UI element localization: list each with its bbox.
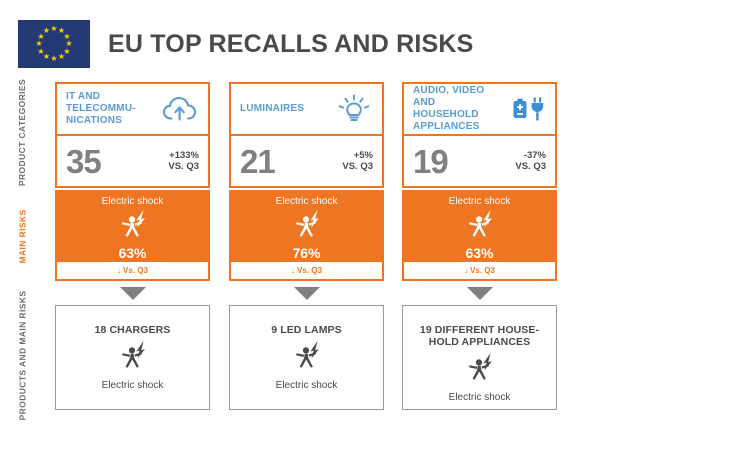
category-delta-value: +5%	[342, 150, 373, 161]
section-label-products-and-main-risks: PRODUCTS AND MAIN RISKS	[0, 300, 46, 410]
main-risk-trend-note: Vs. Q3	[470, 266, 495, 275]
trend-down-arrow-icon: ↓	[464, 266, 468, 275]
section-label-text: MAIN RISKS	[18, 209, 29, 263]
product-detail-box: 19 DIFFERENT HOUSE- HOLD APPLIANCES Elec…	[402, 305, 557, 410]
section-label-text: PRODUCT CATEGORIES	[18, 78, 29, 185]
main-risk-block: Electric shock 63%	[55, 190, 210, 262]
cloud-upload-icon	[160, 91, 200, 127]
category-delta-note: VS. Q3	[168, 161, 199, 172]
connector-arrow-icon	[467, 287, 493, 300]
eu-flag-icon: ★★★★★★★★★★★★	[18, 20, 90, 68]
infographic-page: ★★★★★★★★★★★★ EU TOP RECALLS AND RISKS PR…	[0, 0, 749, 449]
main-risk-trend: ↓ Vs. Q3	[402, 262, 557, 281]
eu-star-icon: ★	[58, 53, 66, 61]
connector-arrow-icon	[294, 287, 320, 300]
category-title: AUDIO, VIDEO AND HOUSEHOLD APPLIANCES	[413, 85, 507, 133]
eu-star-icon: ★	[37, 48, 45, 56]
category-count: 21	[240, 145, 342, 178]
eu-star-icon: ★	[43, 27, 51, 35]
section-label-text: PRODUCTS AND MAIN RISKS	[18, 290, 29, 420]
eu-star-icon: ★	[50, 55, 58, 63]
category-count: 19	[413, 145, 515, 178]
main-risk-trend-note: Vs. Q3	[297, 266, 322, 275]
main-risk-percentage: 76%	[292, 246, 320, 261]
main-risk-trend: ↓ Vs. Q3	[229, 262, 384, 281]
category-delta: +133% VS. Q3	[168, 150, 199, 172]
main-risk-percentage: 63%	[118, 246, 146, 261]
electric-shock-icon	[293, 209, 321, 244]
product-detail-box: 18 CHARGERS Electric shock	[55, 305, 210, 410]
main-risk-name: Electric shock	[276, 195, 338, 208]
lightbulb-icon	[334, 91, 374, 127]
category-delta: +5% VS. Q3	[342, 150, 373, 172]
electric-shock-icon	[119, 340, 147, 375]
category-header: AUDIO, VIDEO AND HOUSEHOLD APPLIANCES	[402, 82, 557, 136]
category-title: IT AND TELECOMMU- NICATIONS	[66, 91, 160, 127]
electric-shock-icon	[466, 352, 494, 387]
page-header: ★★★★★★★★★★★★ EU TOP RECALLS AND RISKS	[18, 20, 474, 68]
main-risk-block: Electric shock 76%	[229, 190, 384, 262]
section-label-main-risks: MAIN RISKS	[0, 190, 46, 282]
category-header: IT AND TELECOMMU- NICATIONS	[55, 82, 210, 136]
category-count-box: 19 -37% VS. Q3	[402, 136, 557, 188]
main-risk-block: Electric shock 63%	[402, 190, 557, 262]
category-count-box: 35 +133% VS. Q3	[55, 136, 210, 188]
category-count: 35	[66, 145, 168, 178]
electric-shock-icon	[466, 209, 494, 244]
battery-plug-icon	[507, 91, 547, 127]
main-risk-trend: ↓ Vs. Q3	[55, 262, 210, 281]
product-detail-box: 9 LED LAMPS Electric shock	[229, 305, 384, 410]
connector-arrow-icon	[120, 287, 146, 300]
category-delta: -37% VS. Q3	[515, 150, 546, 172]
page-title: EU TOP RECALLS AND RISKS	[108, 30, 474, 59]
category-title: LUMINAIRES	[240, 103, 334, 115]
electric-shock-icon	[293, 340, 321, 375]
electric-shock-icon	[119, 209, 147, 244]
category-delta-note: VS. Q3	[342, 161, 373, 172]
category-delta-value: -37%	[515, 150, 546, 161]
main-risk-name: Electric shock	[449, 195, 511, 208]
product-title: 9 LED LAMPS	[271, 324, 342, 336]
product-risk-name: Electric shock	[449, 392, 511, 404]
category-delta-note: VS. Q3	[515, 161, 546, 172]
product-title: 19 DIFFERENT HOUSE- HOLD APPLIANCES	[420, 324, 539, 348]
main-risk-trend-note: Vs. Q3	[123, 266, 148, 275]
eu-star-icon: ★	[35, 40, 43, 48]
category-delta-value: +133%	[168, 150, 199, 161]
product-risk-name: Electric shock	[276, 380, 338, 392]
category-header: LUMINAIRES	[229, 82, 384, 136]
category-count-box: 21 +5% VS. Q3	[229, 136, 384, 188]
trend-down-arrow-icon: ↓	[291, 266, 295, 275]
main-risk-percentage: 63%	[465, 246, 493, 261]
product-risk-name: Electric shock	[102, 380, 164, 392]
main-risk-name: Electric shock	[102, 195, 164, 208]
product-title: 18 CHARGERS	[95, 324, 171, 336]
section-label-product-categories: PRODUCT CATEGORIES	[0, 82, 46, 182]
trend-down-arrow-icon: ↓	[117, 266, 121, 275]
